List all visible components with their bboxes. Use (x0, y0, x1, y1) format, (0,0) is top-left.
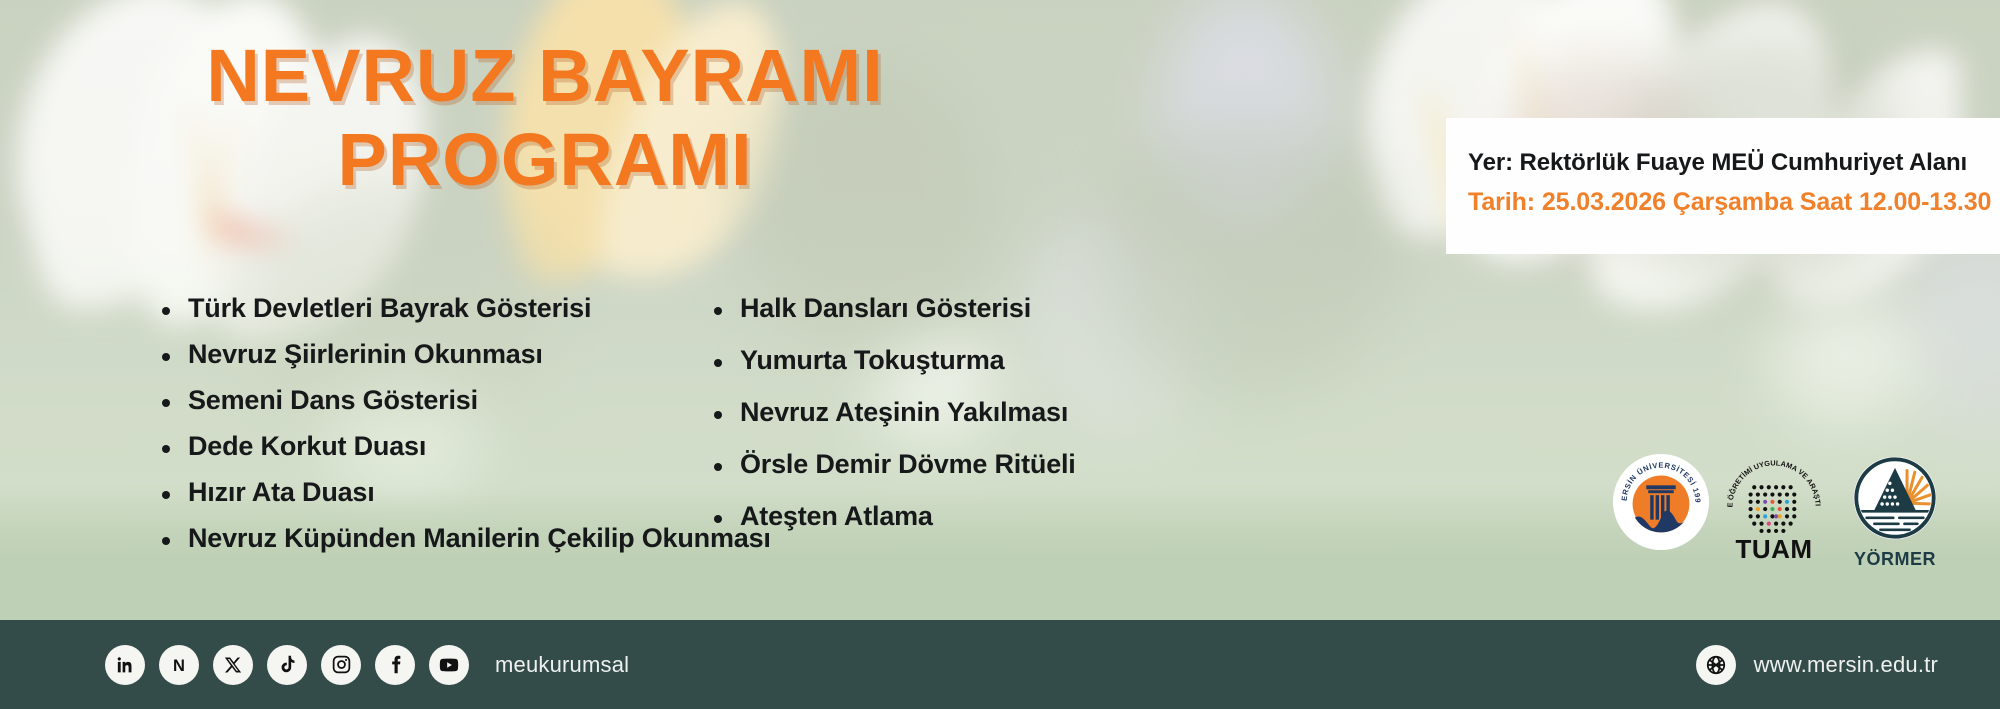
logo-mersin-universitesi: MERSİN ÜNİVERSİTESİ 1992 (1612, 453, 1710, 556)
footer-social-handle: meukurumsal (495, 652, 629, 678)
program-lists: Türk Devletleri Bayrak Gösterisi Nevruz … (0, 293, 1400, 569)
yormer-wordmark: YÖRMER (1852, 549, 1938, 570)
program-column-right: Halk Dansları Gösterisi Yumurta Tokuştur… (690, 293, 1330, 569)
facebook-icon[interactable] (375, 645, 415, 685)
svg-text:N: N (173, 656, 185, 674)
list-item: Örsle Demir Dövme Ritüeli (712, 449, 1330, 480)
yormer-icon (1852, 455, 1938, 541)
program-list-right: Halk Dansları Gösterisi Yumurta Tokuştur… (712, 293, 1330, 532)
nsosyal-icon[interactable]: N (159, 645, 199, 685)
footer-social-group: N meukurumsal (105, 645, 629, 685)
list-item: Dede Korkut Duası (160, 431, 690, 462)
list-item: Hızır Ata Duası (160, 477, 690, 508)
list-item: Türk Devletleri Bayrak Gösterisi (160, 293, 690, 324)
list-item: Ateşten Atlama (712, 501, 1330, 532)
list-item: Nevruz Küpünden Manilerin Çekilip Okunma… (160, 523, 690, 554)
event-venue: Yer: Rektörlük Fuaye MEÜ Cumhuriyet Alan… (1468, 149, 2000, 177)
globe-icon[interactable] (1696, 645, 1736, 685)
nevruz-program-poster: NEVRUZ BAYRAMI PROGRAMI Yer: Rektörlük F… (0, 0, 2000, 709)
footer-website-url: www.mersin.edu.tr (1754, 652, 1938, 678)
logo-strip: MERSİN ÜNİVERSİTESİ 1992 (1612, 453, 1938, 570)
event-info-box: Yer: Rektörlük Fuaye MEÜ Cumhuriyet Alan… (1446, 118, 2000, 254)
tuam-dot-grid (1749, 485, 1797, 533)
list-item: Nevruz Şiirlerinin Okunması (160, 339, 690, 370)
program-list-left: Türk Devletleri Bayrak Gösterisi Nevruz … (160, 293, 690, 554)
list-item: Halk Dansları Gösterisi (712, 293, 1330, 324)
program-column-left: Türk Devletleri Bayrak Gösterisi Nevruz … (0, 293, 690, 569)
footer-website-group[interactable]: www.mersin.edu.tr (1696, 645, 1938, 685)
x-twitter-icon[interactable] (213, 645, 253, 685)
linkedin-icon[interactable] (105, 645, 145, 685)
logo-yormer: YÖRMER (1852, 453, 1938, 570)
mersin-universitesi-icon: MERSİN ÜNİVERSİTESİ 1992 (1612, 453, 1710, 551)
tiktok-icon[interactable] (267, 645, 307, 685)
list-item: Yumurta Tokuşturma (712, 345, 1330, 376)
title-line-1: NEVRUZ BAYRAMI (0, 42, 1090, 110)
instagram-icon[interactable] (321, 645, 361, 685)
tuam-wordmark: TUAM (1722, 534, 1826, 565)
poster-title: NEVRUZ BAYRAMI PROGRAMI (0, 42, 1090, 194)
list-item: Semeni Dans Gösterisi (160, 385, 690, 416)
youtube-icon[interactable] (429, 645, 469, 685)
event-datetime: Tarih: 25.03.2026 Çarşamba Saat 12.00-13… (1468, 188, 2000, 217)
title-line-2: PROGRAMI (0, 126, 1090, 194)
logo-tuam: M.E.Ü. TÜRKÇE ÖĞRETİMİ UYGULAMA VE ARAŞT… (1722, 453, 1826, 559)
list-item: Nevruz Ateşinin Yakılması (712, 397, 1330, 428)
footer-bar: N meukurumsal www.mersin.e (0, 620, 2000, 709)
